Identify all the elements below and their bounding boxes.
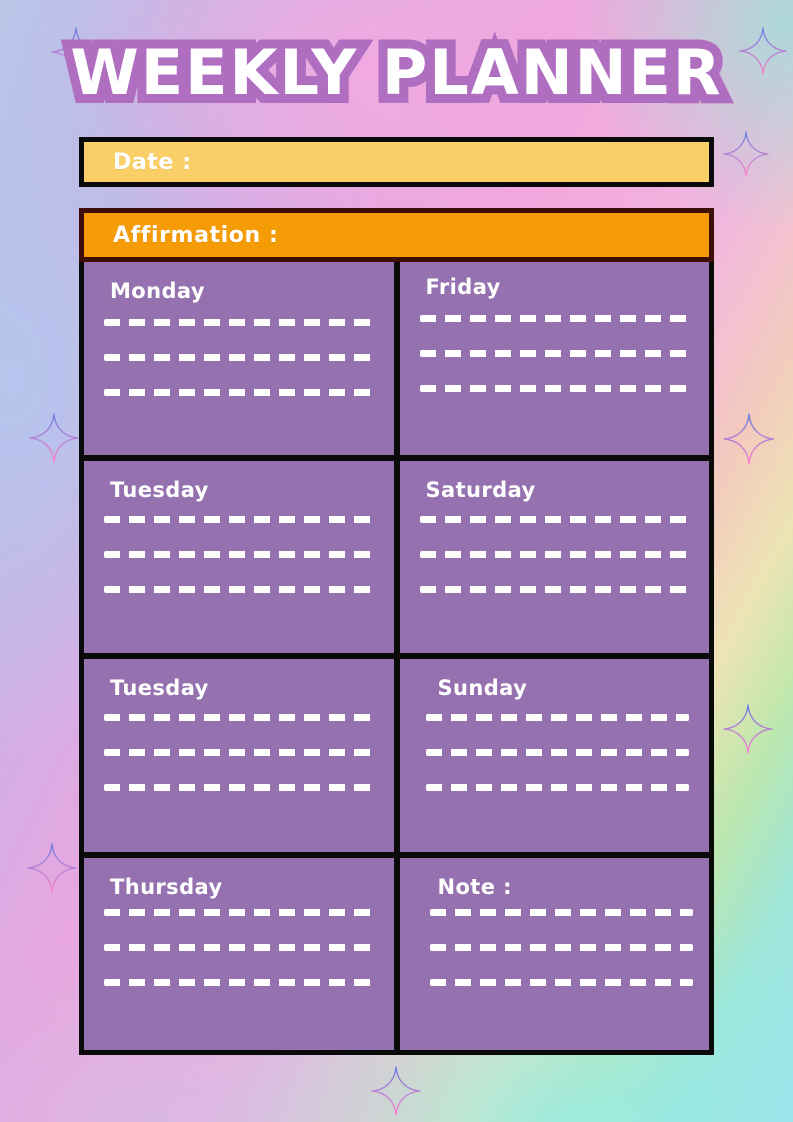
dashed-write-line[interactable] — [420, 315, 690, 322]
cell-label: Saturday — [426, 479, 694, 502]
cell-writing-lines — [100, 714, 378, 791]
planner-cell-tuesday-3[interactable]: Tuesday — [84, 659, 394, 852]
planner-cell-thursday-4[interactable]: Thursday — [84, 858, 394, 1051]
dashed-write-line[interactable] — [420, 385, 690, 392]
planner-cell-tuesday-2[interactable]: Tuesday — [84, 461, 394, 654]
dashed-write-line[interactable] — [420, 516, 690, 523]
cell-label: Friday — [426, 276, 694, 299]
date-label: Date : — [84, 150, 192, 175]
dashed-write-line[interactable] — [430, 944, 694, 951]
planner-cell-note-4[interactable]: Note : — [400, 858, 710, 1051]
dashed-write-line[interactable] — [420, 586, 690, 593]
dashed-write-line[interactable] — [104, 586, 374, 593]
cell-writing-lines — [100, 516, 378, 593]
cell-writing-lines — [416, 516, 694, 593]
planner-cell-friday-1[interactable]: Friday — [400, 262, 710, 455]
planner-cell-sunday-3[interactable]: Sunday — [400, 659, 710, 852]
dashed-write-line[interactable] — [426, 714, 690, 721]
dashed-write-line[interactable] — [104, 944, 374, 951]
cell-writing-lines — [100, 909, 378, 986]
dashed-write-line[interactable] — [104, 389, 374, 396]
cell-writing-lines — [416, 714, 694, 791]
dashed-write-line[interactable] — [104, 516, 374, 523]
dashed-write-line[interactable] — [104, 749, 374, 756]
dashed-write-line[interactable] — [104, 784, 374, 791]
planner-grid: MondayFridayTuesdaySaturdayTuesdaySunday… — [79, 262, 714, 1055]
cell-label: Tuesday — [110, 479, 378, 502]
cell-label: Tuesday — [110, 677, 378, 700]
affirmation-field[interactable]: Affirmation : — [79, 208, 714, 262]
dashed-write-line[interactable] — [420, 350, 690, 357]
dashed-write-line[interactable] — [104, 319, 374, 326]
cell-label: Sunday — [438, 677, 694, 700]
cell-label: Thursday — [110, 876, 378, 899]
dashed-write-line[interactable] — [104, 551, 374, 558]
dashed-write-line[interactable] — [104, 714, 374, 721]
cell-writing-lines — [100, 319, 378, 396]
cell-label: Note : — [438, 876, 694, 899]
planner-cell-monday-1[interactable]: Monday — [84, 262, 394, 455]
dashed-write-line[interactable] — [420, 551, 690, 558]
dashed-write-line[interactable] — [104, 909, 374, 916]
cell-label: Monday — [110, 280, 378, 303]
planner-cell-saturday-2[interactable]: Saturday — [400, 461, 710, 654]
dashed-write-line[interactable] — [104, 979, 374, 986]
dashed-write-line[interactable] — [430, 979, 694, 986]
cell-writing-lines — [416, 909, 694, 986]
page-title: WEEKLY PLANNER WEEKLY PLANNER — [0, 36, 793, 110]
dashed-write-line[interactable] — [430, 909, 694, 916]
cell-writing-lines — [416, 315, 694, 392]
affirmation-label: Affirmation : — [84, 223, 278, 248]
dashed-write-line[interactable] — [104, 354, 374, 361]
planner-page: WEEKLY PLANNER WEEKLY PLANNER Date : Aff… — [0, 0, 793, 1122]
date-field[interactable]: Date : — [79, 137, 714, 187]
page-title-fill: WEEKLY PLANNER — [0, 36, 793, 110]
dashed-write-line[interactable] — [426, 749, 690, 756]
dashed-write-line[interactable] — [426, 784, 690, 791]
